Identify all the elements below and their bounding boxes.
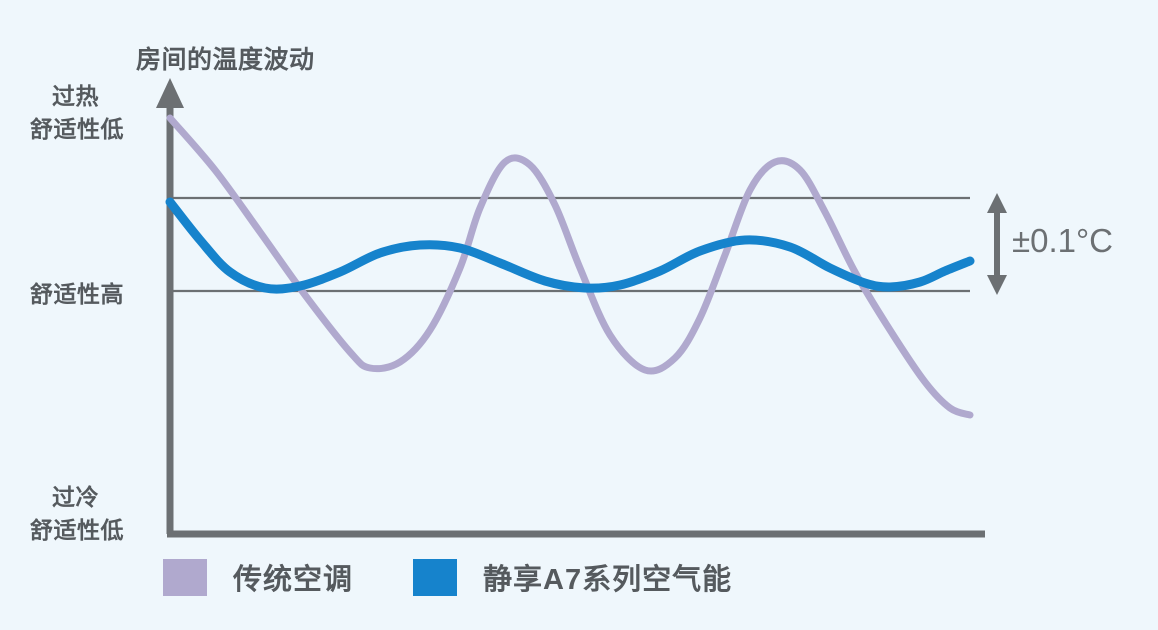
axis-label-overcool: 过冷 <box>52 478 99 512</box>
axis-label-overheat: 过热 <box>52 77 99 111</box>
chart-canvas: 房间的温度波动 过热 舒适性低 舒适性高 过冷 舒适性低 ±0.1°C 传统空调… <box>0 0 1158 630</box>
axis-label-comfort-high: 舒适性高 <box>30 275 124 309</box>
legend-item-a7-heat-pump[interactable]: 静享A7系列空气能 <box>413 556 732 598</box>
axis-label-overcool-comfort: 舒适性低 <box>30 511 124 545</box>
axis-label-overheat-comfort: 舒适性低 <box>30 110 124 144</box>
chart-legend: 传统空调 静享A7系列空气能 <box>163 556 732 598</box>
tolerance-annotation-label: ±0.1°C <box>1012 222 1113 260</box>
legend-item-traditional-ac[interactable]: 传统空调 <box>163 556 353 598</box>
legend-swatch-a7-heat-pump <box>413 559 457 596</box>
legend-swatch-traditional-ac <box>163 559 207 596</box>
page-title: 房间的温度波动 <box>136 40 315 76</box>
legend-label-traditional-ac: 传统空调 <box>233 556 353 598</box>
legend-label-a7-heat-pump: 静享A7系列空气能 <box>483 556 732 598</box>
temperature-fluctuation-chart <box>0 0 1158 630</box>
